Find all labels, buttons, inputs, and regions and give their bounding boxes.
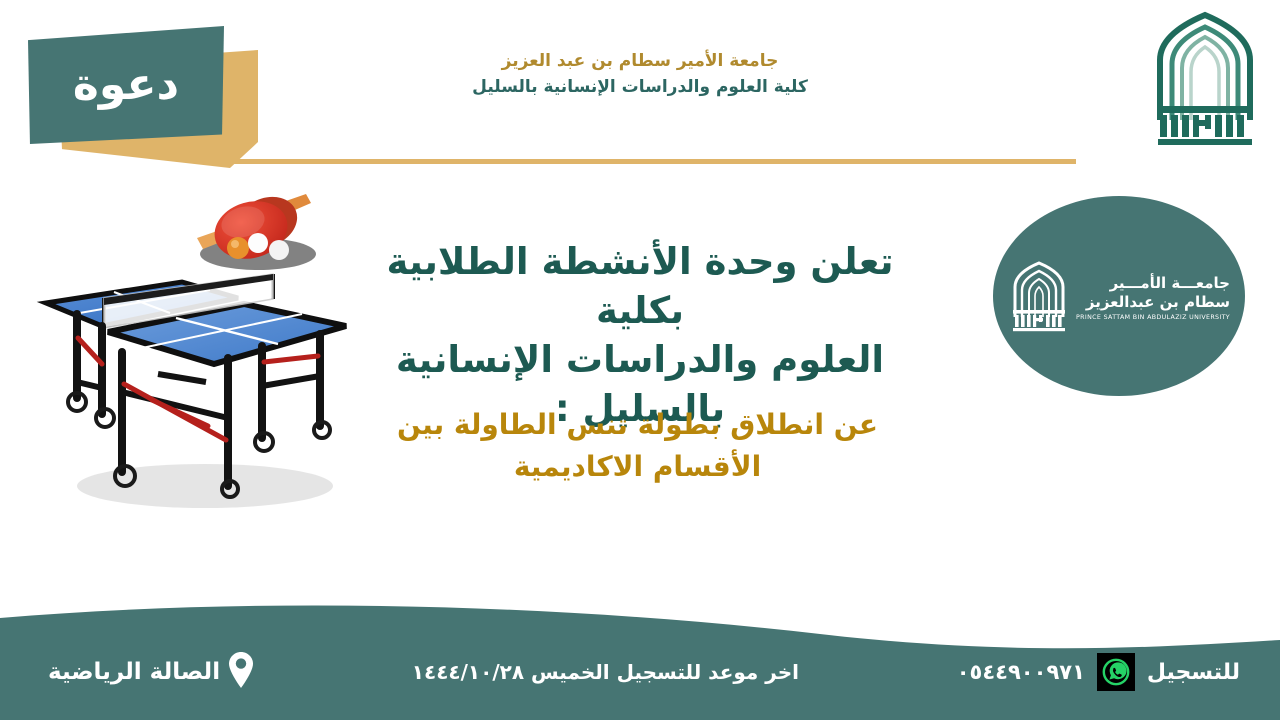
registration-info: للتسجيل ٠٥٤٤٩٠٠٩٧١ [957,653,1240,691]
badge-text-block: جامعـــة الأمـــير سطام بن عبدالعزيز PRI… [1076,274,1230,321]
badge-arch-icon [1008,259,1070,337]
registration-deadline: اخر موعد للتسجيل الخميس ١٤٤٤/١٠/٢٨ [254,660,957,684]
university-badge-circle: جامعـــة الأمـــير سطام بن عبدالعزيز PRI… [993,196,1245,396]
badge-english-name: PRINCE SATTAM BIN ABDULAZIZ UNIVERSITY [1076,314,1230,322]
venue-info: الصالة الرياضية [48,651,254,693]
registration-phone[interactable]: ٠٥٤٤٩٠٠٩٧١ [957,660,1085,684]
venue-label: الصالة الرياضية [48,659,220,685]
poster-root: دعوة جامعة الأمير سطام بن عبد العزيز كلي… [0,0,1280,720]
banner-teal-panel: دعوة [28,26,224,144]
whatsapp-icon[interactable] [1097,653,1135,691]
badge-arabic-line-2: سطام بن عبدالعزيز [1076,293,1230,312]
invitation-banner: دعوة [28,22,268,172]
gold-divider-line [205,159,1076,164]
badge-inner: جامعـــة الأمـــير سطام بن عبدالعزيز PRI… [1008,259,1230,337]
badge-arabic-line-1: جامعـــة الأمـــير [1076,274,1230,293]
paddle-group [197,188,316,270]
registration-label: للتسجيل [1147,660,1240,685]
event-subtitle-line-1: عن انطلاق بطولة تنس الطاولة بين [350,404,925,446]
banner-label: دعوة [73,59,179,110]
footer-content: للتسجيل ٠٥٤٤٩٠٠٩٧١ اخر موعد للتسجيل الخم… [0,624,1280,720]
event-subtitle: عن انطلاق بطولة تنس الطاولة بين الأقسام … [350,404,925,488]
table-tennis-illustration [30,186,375,531]
university-logo-icon [1146,8,1264,148]
event-subtitle-line-2: الأقسام الاكاديمية [350,446,925,488]
main-heading-line-1: تعلن وحدة الأنشطة الطلابية بكلية [345,237,935,335]
location-pin-icon [228,651,254,693]
